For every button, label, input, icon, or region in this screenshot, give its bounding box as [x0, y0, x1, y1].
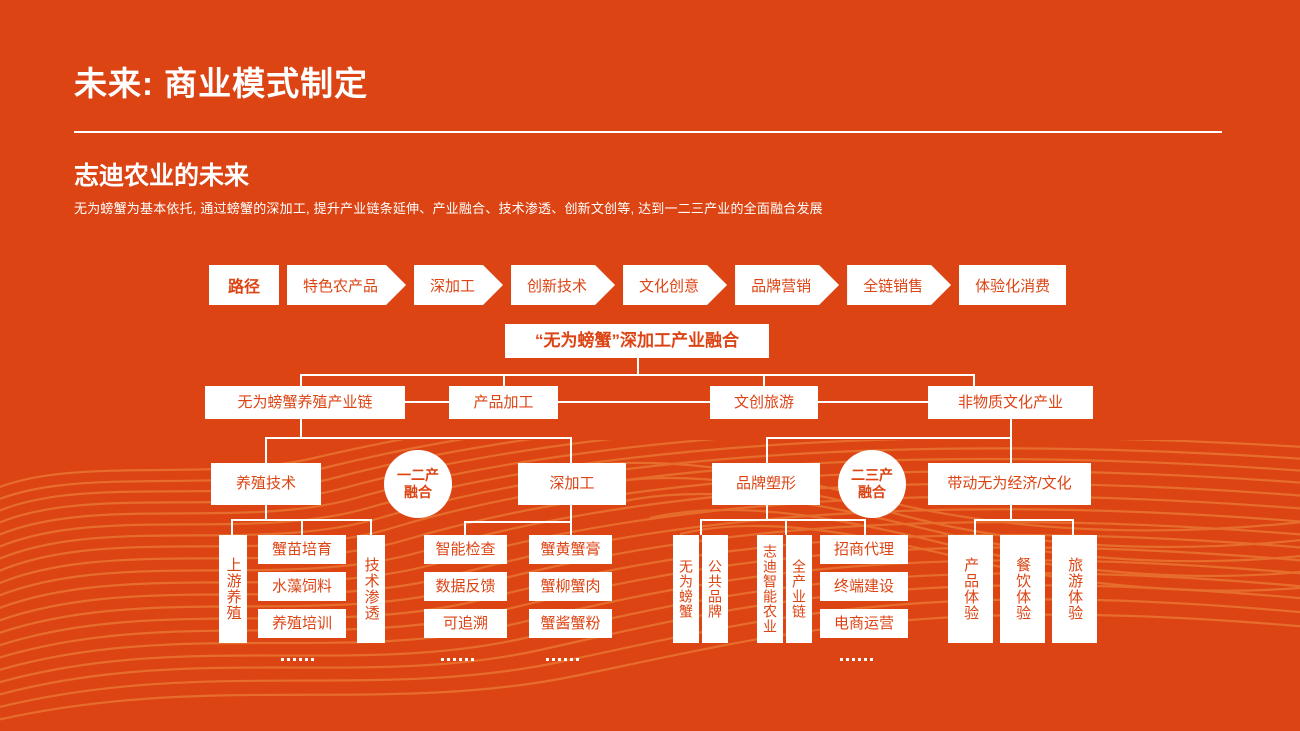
connector-brand-bus [700, 519, 866, 521]
leaf-tech-penetration[interactable]: 技术渗透 [357, 535, 385, 643]
node-product-processing[interactable]: 产品加工 [449, 386, 558, 419]
node-brand-shaping[interactable]: 品牌塑形 [712, 463, 820, 505]
leaf-tourism-experience[interactable]: 旅游体验 [1052, 535, 1097, 643]
connector-breeding-drop-3 [370, 519, 372, 535]
leaf-dining-experience[interactable]: 餐饮体验 [1000, 535, 1045, 643]
node-deep-processing[interactable]: 深加工 [518, 463, 626, 505]
dot-cluster-4 [840, 658, 873, 661]
dot-cluster-2 [441, 658, 474, 661]
circle-fusion-2-3-line1: 二三产 [851, 467, 893, 485]
path-step-3[interactable]: 创新技术 [511, 265, 615, 305]
connector-tier2-drop-3 [763, 374, 765, 386]
leaf-product-experience[interactable]: 产品体验 [948, 535, 993, 643]
leaf-zhidi-smart-agriculture[interactable]: 志迪智能农业 [757, 535, 783, 643]
connector-brand-drop-3 [864, 519, 866, 535]
node-root[interactable]: “无为螃蟹”深加工产业融合 [505, 324, 769, 358]
connector-left-stem [300, 419, 302, 437]
path-step-1[interactable]: 特色农产品 [287, 265, 406, 305]
leaf-breeding-training[interactable]: 养殖培训 [258, 609, 346, 638]
connector-right-drop-1 [766, 437, 768, 463]
leaf-crab-roe-paste[interactable]: 蟹黄蟹膏 [529, 535, 612, 564]
connector-processing-bus [464, 521, 572, 523]
path-step-4[interactable]: 文化创意 [623, 265, 727, 305]
leaf-wuwei-crab[interactable]: 无为螃蟹 [673, 535, 699, 643]
connector-right-bus [766, 437, 1012, 439]
leaf-upstream-breeding[interactable]: 上游养殖 [219, 535, 247, 643]
connector-exp-drop-2 [1072, 519, 1074, 535]
connector-tier2-link-c [818, 401, 928, 403]
connector-exp-stem [1010, 505, 1012, 519]
circle-fusion-1-2-line2: 融合 [404, 484, 432, 502]
connector-brand-drop-2 [785, 519, 787, 535]
connector-left-bus [265, 437, 572, 439]
connector-tier2-drop-4 [973, 374, 975, 386]
connector-processing-stem [570, 505, 572, 521]
leaf-data-feedback[interactable]: 数据反馈 [424, 572, 507, 601]
circle-fusion-2-3[interactable]: 二三产 融合 [838, 450, 906, 518]
connector-left-drop-1 [265, 437, 267, 463]
connector-left-drop-2 [570, 437, 572, 463]
dot-cluster-1 [281, 658, 314, 661]
connector-right-stem [1010, 419, 1012, 437]
leaf-investment-agency[interactable]: 招商代理 [820, 535, 908, 564]
connector-right-drop-2 [1010, 437, 1012, 463]
page-title: 未来: 商业模式制定 [74, 57, 368, 105]
section-description: 无为螃蟹为基本依托, 通过螃蟹的深加工, 提升产业链条延伸、产业融合、技术渗透、… [74, 198, 823, 217]
connector-exp-bus [974, 519, 1073, 521]
leaf-crab-sauce-powder[interactable]: 蟹酱蟹粉 [529, 609, 612, 638]
wave-background-decoration [0, 0, 1300, 731]
connector-exp-drop-1 [974, 519, 976, 535]
connector-tier2-link-a [405, 401, 449, 403]
path-step-7[interactable]: 体验化消费 [959, 265, 1066, 305]
circle-fusion-1-2[interactable]: 一二产 融合 [384, 450, 452, 518]
connector-breeding-drop-1 [231, 519, 233, 535]
node-regional-economy[interactable]: 带动无为经济/文化 [928, 463, 1091, 505]
leaf-algae-feed[interactable]: 水藻饲料 [258, 572, 346, 601]
leaf-crab-seedling[interactable]: 蟹苗培育 [258, 535, 346, 564]
leaf-full-industry-chain[interactable]: 全产业链 [786, 535, 812, 643]
section-heading: 志迪农业的未来 [74, 156, 249, 192]
path-step-6[interactable]: 全链销售 [847, 265, 951, 305]
node-breeding-tech[interactable]: 养殖技术 [211, 463, 321, 505]
path-steps-row: 路径 特色农产品 深加工 创新技术 文化创意 品牌营销 全链销售 体验化消费 [209, 265, 1074, 305]
circle-fusion-1-2-line1: 一二产 [397, 467, 439, 485]
connector-brand-drop-1 [700, 519, 702, 535]
node-cultural-tourism[interactable]: 文创旅游 [710, 386, 818, 419]
leaf-traceable[interactable]: 可追溯 [424, 609, 507, 638]
leaf-public-brand[interactable]: 公共品牌 [702, 535, 728, 643]
connector-tier2-link-b [558, 401, 710, 403]
connector-processing-drop-1 [464, 521, 466, 535]
title-divider [74, 131, 1222, 133]
connector-breeding-drop-2 [301, 519, 303, 535]
connector-root-stem [637, 358, 639, 374]
path-step-5[interactable]: 品牌营销 [735, 265, 839, 305]
path-badge: 路径 [209, 265, 279, 305]
leaf-crab-stick-meat[interactable]: 蟹柳蟹肉 [529, 572, 612, 601]
connector-tier2-drop-2 [503, 374, 505, 386]
path-step-2[interactable]: 深加工 [414, 265, 503, 305]
connector-breeding-stem [265, 505, 267, 519]
leaf-ecommerce-operation[interactable]: 电商运营 [820, 609, 908, 638]
connector-tier2-bus [300, 374, 975, 376]
leaf-terminal-construction[interactable]: 终端建设 [820, 572, 908, 601]
node-aquaculture-chain[interactable]: 无为螃蟹养殖产业链 [205, 386, 405, 419]
circle-fusion-2-3-line2: 融合 [858, 484, 886, 502]
leaf-smart-inspection[interactable]: 智能检查 [424, 535, 507, 564]
node-intangible-culture[interactable]: 非物质文化产业 [928, 386, 1093, 419]
dot-cluster-3 [546, 658, 579, 661]
connector-brand-stem [766, 505, 768, 519]
connector-processing-drop-2 [570, 521, 572, 535]
connector-tier2-drop-1 [300, 374, 302, 386]
